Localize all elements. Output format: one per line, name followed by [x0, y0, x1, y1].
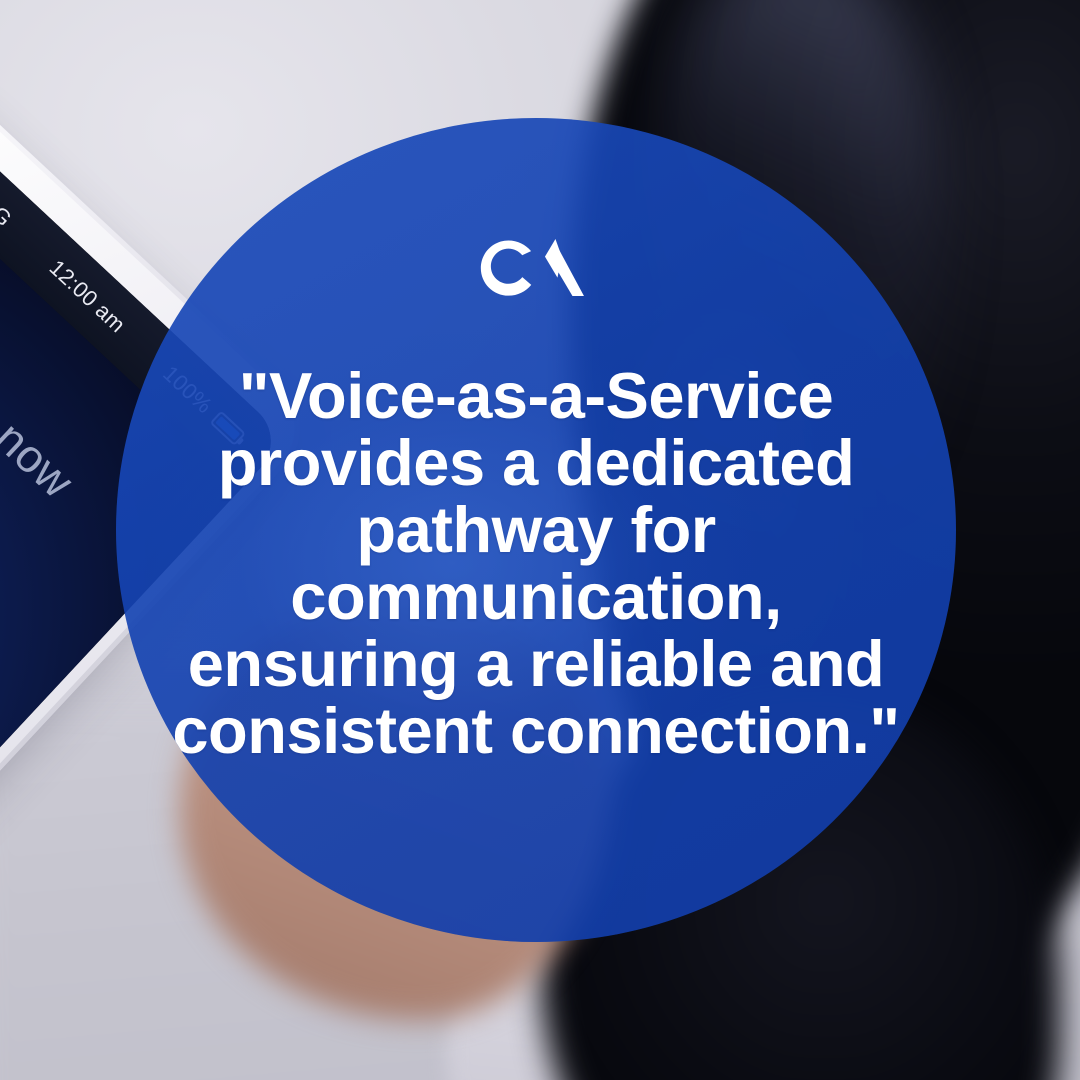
quote-text: "Voice-as-a-Service provides a dedicated…: [168, 363, 904, 765]
social-quote-card: 5G 12:00 am 100% Speak now: [0, 0, 1080, 1080]
ca-monogram-logo-icon: [474, 230, 598, 310]
network-label: 5G: [0, 193, 17, 232]
quote-circle-overlay: "Voice-as-a-Service provides a dedicated…: [116, 118, 956, 942]
logo-container: [116, 230, 956, 310]
